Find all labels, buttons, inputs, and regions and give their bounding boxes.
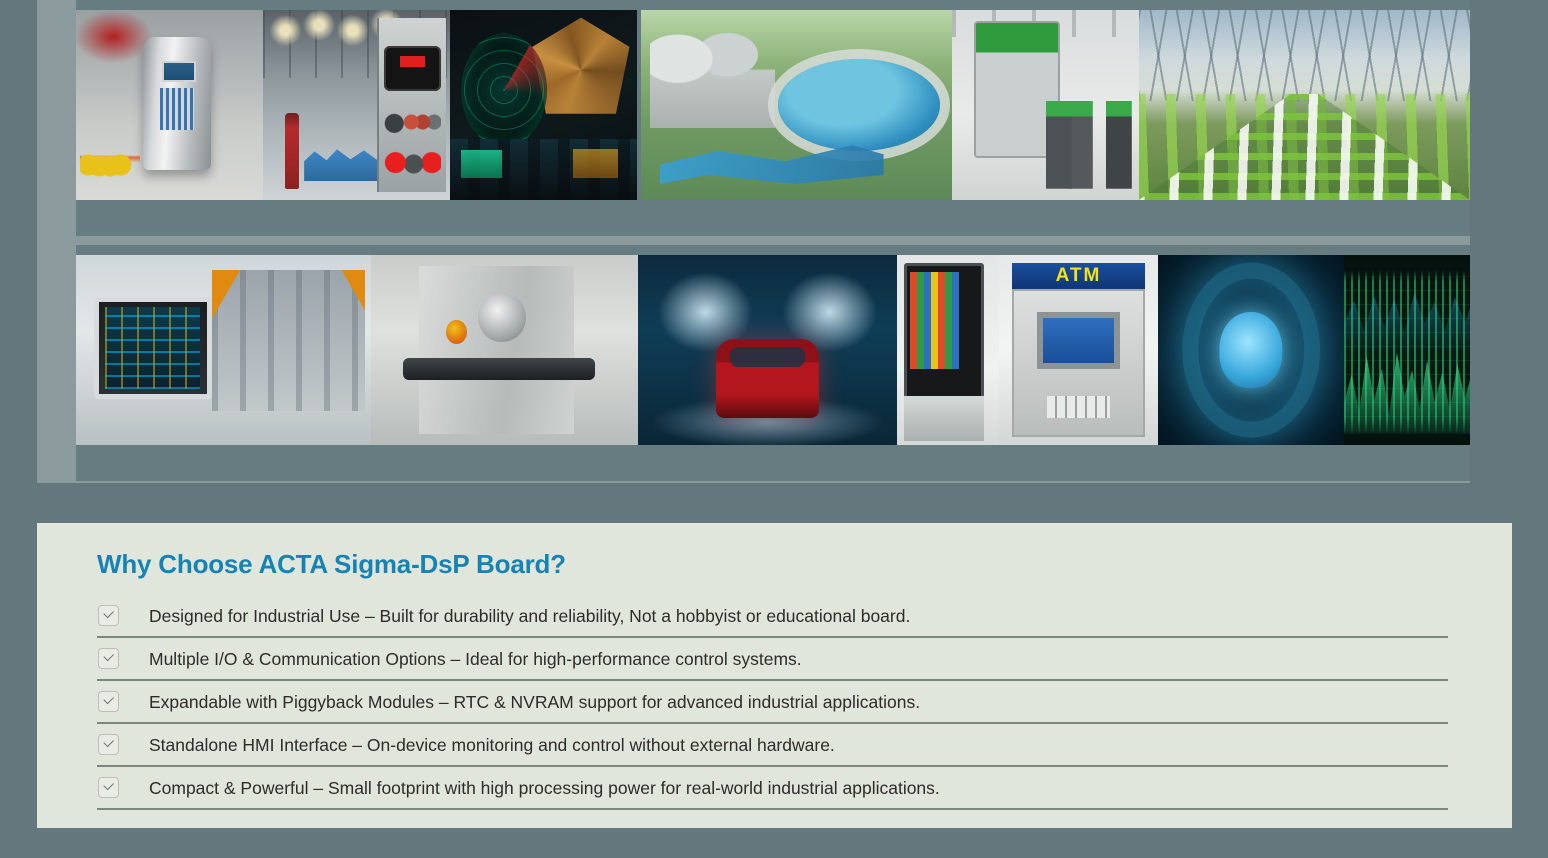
industrial-boiler-photo (76, 10, 263, 200)
packing-machines-photo (371, 255, 638, 445)
applications-gallery-panel: Industrial Boiler control Gas detection … (37, 0, 1470, 483)
gallery-tile-car-washer[interactable]: Car washer (638, 255, 897, 445)
vending-machines-photo (897, 255, 999, 445)
gallery-row-2: Industrial scada Packing machines Car wa… (76, 245, 1470, 481)
why-choose-item-text: Standalone HMI Interface – On-device mon… (149, 734, 835, 756)
gallery-tile-signal-analysis[interactable]: Signal Analysis (1344, 255, 1470, 445)
why-choose-item-text: Expandable with Piggyback Modules – RTC … (149, 691, 920, 713)
why-choose-list: Designed for Industrial Use – Built for … (97, 595, 1448, 810)
checkbox-checked-icon (98, 648, 119, 669)
gallery-tile-radar-communication[interactable]: Radar communication (450, 10, 637, 200)
atm-sign-icon (1012, 263, 1146, 290)
gallery-tile-water-treatment-plant[interactable]: Water Treatment plant (641, 10, 952, 200)
gallery-tile-greenhouse-monitoring[interactable]: Greenhouse Monitoring (1139, 10, 1470, 200)
gallery-tile-gas-detection-system[interactable]: Gas detection system (263, 10, 450, 200)
why-choose-item-text: Multiple I/O & Communication Options – I… (149, 648, 802, 670)
why-choose-list-item[interactable]: Compact & Powerful – Small footprint wit… (97, 767, 1448, 810)
why-choose-item-text: Designed for Industrial Use – Built for … (149, 605, 910, 627)
gallery-tile-industrial-boiler-control[interactable]: Industrial Boiler control (76, 10, 263, 200)
gallery-tile-imaging-systems[interactable]: Imaging systems (1158, 255, 1344, 445)
water-treatment-photo (641, 10, 952, 200)
atm-machines-photo (999, 255, 1158, 445)
why-choose-panel: Why Choose ACTA Sigma-DsP Board? Designe… (37, 523, 1512, 828)
gallery-tile-industrial-scada[interactable]: Industrial scada (76, 255, 371, 445)
waste-disposal-photo (952, 10, 1139, 200)
why-choose-list-item[interactable]: Standalone HMI Interface – On-device mon… (97, 724, 1448, 767)
car-washer-photo (638, 255, 897, 445)
why-choose-list-item[interactable]: Designed for Industrial Use – Built for … (97, 595, 1448, 638)
industrial-scada-photo (76, 255, 371, 445)
checkbox-checked-icon (98, 777, 119, 798)
greenhouse-monitoring-photo (1139, 10, 1470, 200)
gas-detection-photo (263, 10, 450, 200)
radar-communication-photo (450, 10, 637, 200)
gallery-tile-vending-machines[interactable]: Vending Machines (897, 255, 999, 445)
why-choose-title: Why Choose ACTA Sigma-DsP Board? (97, 549, 566, 580)
imaging-systems-photo (1158, 255, 1344, 445)
why-choose-list-item[interactable]: Expandable with Piggyback Modules – RTC … (97, 681, 1448, 724)
checkbox-checked-icon (98, 605, 119, 626)
gallery-tile-packing-machines[interactable]: Packing machines (371, 255, 638, 445)
checkbox-checked-icon (98, 691, 119, 712)
gallery-row-1: Industrial Boiler control Gas detection … (76, 0, 1470, 236)
gallery-tile-atm-machines[interactable]: ATM-Machines (999, 255, 1158, 445)
signal-analysis-photo (1344, 255, 1470, 445)
why-choose-item-text: Compact & Powerful – Small footprint wit… (149, 777, 940, 799)
why-choose-list-item[interactable]: Multiple I/O & Communication Options – I… (97, 638, 1448, 681)
checkbox-checked-icon (98, 734, 119, 755)
gallery-tile-waste-disposal-system[interactable]: Waste disposal system (952, 10, 1139, 200)
